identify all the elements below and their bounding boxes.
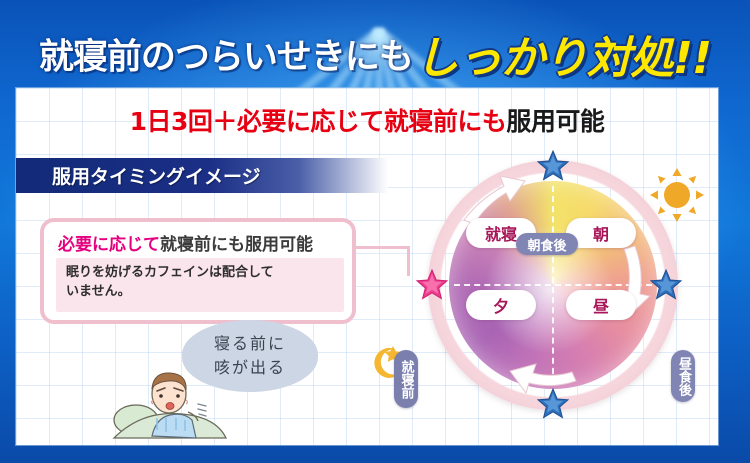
thought-bubble-line1: 寝る前に bbox=[214, 332, 286, 356]
headline: 1日3回＋必要に応じて就寝前にも服用可能 bbox=[16, 102, 718, 138]
poster-canvas: 就寝前のつらいせきにもしっかり対処!! 1日3回＋必要に応じて就寝前にも服用可能… bbox=[0, 0, 750, 463]
callout-body-line1: 眠りを妨げるカフェインは配合して bbox=[56, 258, 344, 283]
poster-title: 就寝前のつらいせきにもしっかり対処!! bbox=[0, 22, 750, 86]
quadrant-label-hiru: 昼 bbox=[566, 290, 636, 320]
section-banner: 服用タイミングイメージ bbox=[16, 158, 388, 193]
callout-body: 眠りを妨げるカフェインは配合して いません。 bbox=[56, 258, 344, 312]
callout-title-dark: 就寝前にも服用可能 bbox=[160, 235, 313, 255]
headline-red-text: 1日3回＋必要に応じて就寝前にも bbox=[130, 107, 507, 136]
headline-black-text: 服用可能 bbox=[506, 107, 604, 136]
dosing-timing-circle-diagram: 就寝 朝 夕 昼 bbox=[428, 160, 678, 410]
callout-title-pink: 必要に応じて bbox=[58, 235, 160, 255]
star-icon-morning bbox=[537, 150, 569, 182]
star-icon-noon bbox=[650, 269, 682, 301]
badge-after-breakfast: 朝食後 bbox=[516, 233, 578, 255]
star-icon-evening bbox=[537, 388, 569, 420]
content-panel: 1日3回＋必要に応じて就寝前にも服用可能 服用タイミングイメージ 必要に応じて就… bbox=[16, 88, 718, 445]
callout-connector-line bbox=[354, 246, 410, 249]
star-icon-bedtime bbox=[416, 269, 448, 301]
diagram-cycle-arrows bbox=[422, 154, 684, 416]
callout-body-line2: いません。 bbox=[56, 283, 344, 302]
badge-after-lunch: 昼食後 bbox=[671, 350, 695, 402]
coughing-man-in-bed-illustration bbox=[112, 360, 228, 444]
title-yellow-text: しっかり対処!! bbox=[415, 33, 711, 84]
badge-before-bed: 就寝前 bbox=[394, 350, 418, 408]
callout-box: 必要に応じて就寝前にも服用可能 眠りを妨げるカフェインは配合して いません。 bbox=[40, 218, 356, 324]
quadrant-label-yu: 夕 bbox=[466, 290, 536, 320]
title-white-text: 就寝前のつらいせきにも bbox=[39, 38, 413, 78]
callout-title: 必要に応じて就寝前にも服用可能 bbox=[58, 230, 313, 255]
callout-connector-elbow bbox=[407, 246, 410, 276]
section-banner-label: 服用タイミングイメージ bbox=[52, 162, 261, 189]
